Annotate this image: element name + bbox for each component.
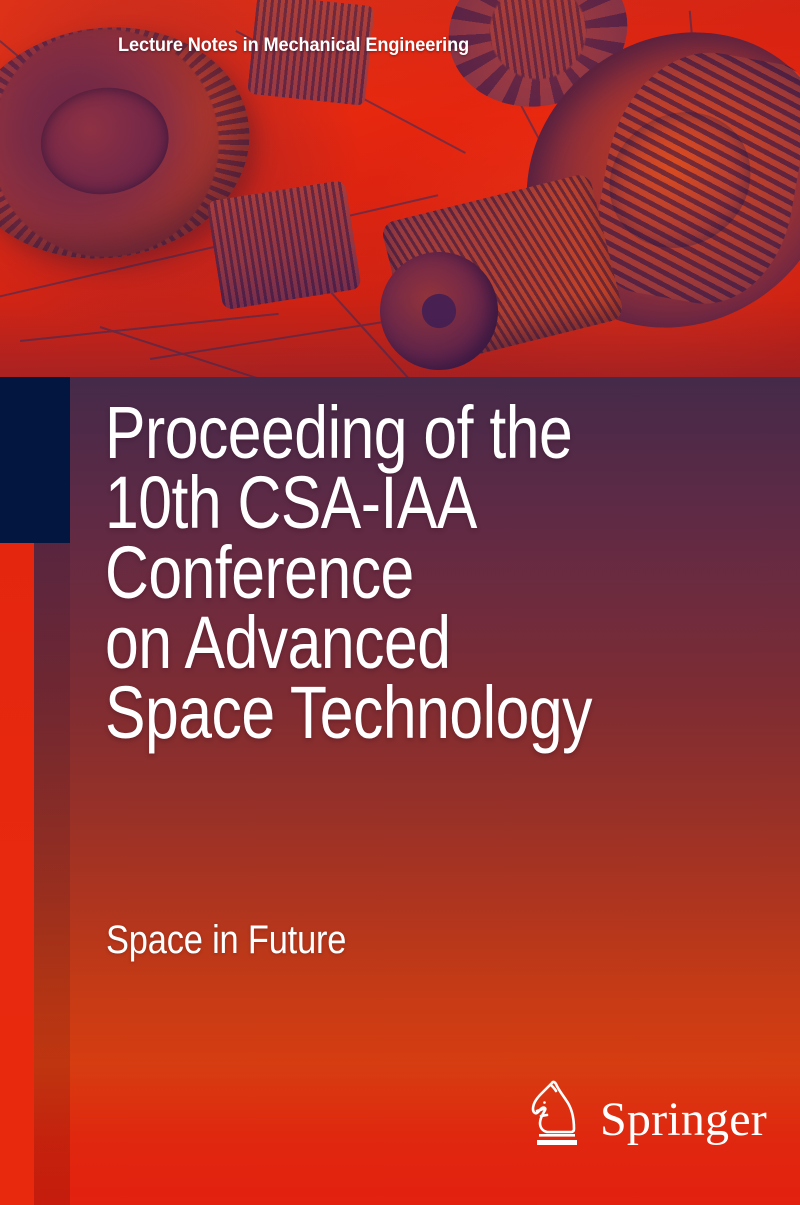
title-line: Space Technology [105, 678, 630, 748]
book-title: Proceeding of the 10th CSA-IAA Conferenc… [105, 398, 630, 748]
series-title: Lecture Notes in Mechanical Engineering [118, 34, 469, 57]
cover-photo: Lecture Notes in Mechanical Engineering [0, 0, 800, 377]
title-line: 10th CSA-IAA [105, 468, 630, 538]
title-line: on Advanced [105, 608, 630, 678]
title-line: Proceeding of the [105, 398, 630, 468]
navy-accent-block [0, 377, 70, 543]
title-line: Conference [105, 538, 630, 608]
springer-wordmark: Springer [600, 1096, 767, 1144]
book-subtitle: Space in Future [106, 918, 346, 962]
springer-logo: Springer [528, 1078, 767, 1150]
book-cover: Lecture Notes in Mechanical Engineering … [0, 0, 800, 1205]
left-red-strip [0, 543, 34, 1205]
springer-knight-icon [528, 1078, 586, 1150]
